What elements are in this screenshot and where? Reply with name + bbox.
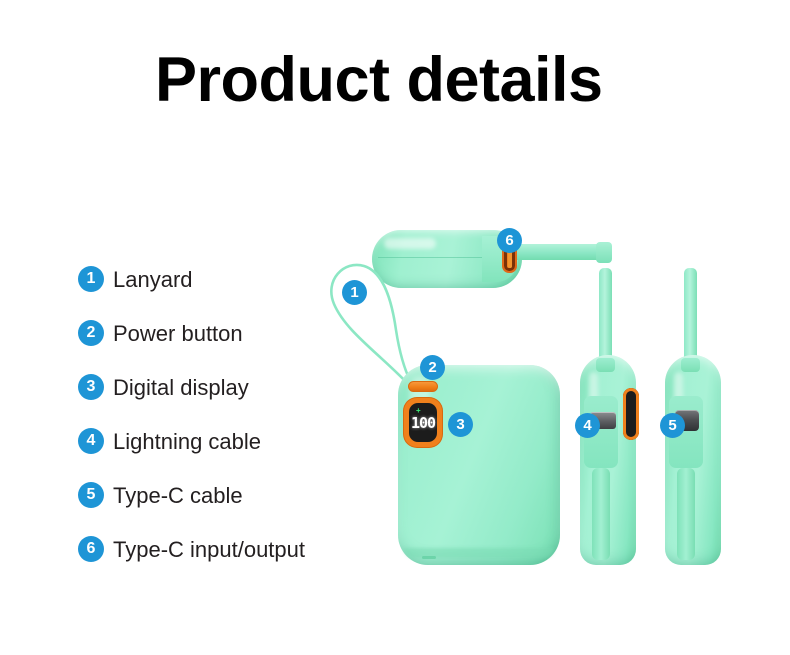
- callout-badge-4: 4: [575, 413, 600, 438]
- side-view-display-bezel: [623, 388, 639, 440]
- display-screen: + 100: [409, 403, 437, 442]
- lanyard-strap-base-left: [596, 358, 615, 372]
- lanyard-strap-tip: [596, 242, 612, 263]
- top-view-highlight: [384, 238, 436, 249]
- callout-badge-2: 2: [420, 355, 445, 380]
- callout-badge-6: 6: [497, 228, 522, 253]
- legend-label-3: Digital display: [113, 374, 249, 401]
- type-c-cable-channel: [677, 468, 695, 560]
- callout-badge-1: 1: [342, 280, 367, 305]
- callout-badge-3: 3: [448, 412, 473, 437]
- lightning-cable-channel: [592, 468, 610, 560]
- front-view-notch: [422, 556, 436, 559]
- lanyard-strap-left: [599, 268, 612, 364]
- digital-display: + 100: [404, 398, 442, 447]
- legend-badge-3: 3: [78, 374, 104, 400]
- callout-badge-5: 5: [660, 413, 685, 438]
- legend-badge-6: 6: [78, 536, 104, 562]
- product-illustration: + 100 1 2 3 4 5 6: [300, 200, 790, 600]
- legend-badge-5: 5: [78, 482, 104, 508]
- legend-label-1: Lanyard: [113, 266, 193, 293]
- lanyard-strap-base-right: [681, 358, 700, 372]
- legend-label-6: Type-C input/output: [113, 536, 305, 563]
- legend-label-2: Power button: [113, 320, 243, 347]
- lanyard-strap-horizontal: [510, 244, 608, 260]
- lanyard-strap-right: [684, 268, 697, 364]
- legend-badge-1: 1: [78, 266, 104, 292]
- legend-label-4: Lightning cable: [113, 428, 261, 455]
- page-title: Product details: [155, 44, 603, 116]
- legend-label-5: Type-C cable: [113, 482, 243, 509]
- type-c-port-slot: [508, 251, 512, 268]
- legend-badge-4: 4: [78, 428, 104, 454]
- power-button[interactable]: [408, 381, 438, 392]
- legend-badge-2: 2: [78, 320, 104, 346]
- display-battery-percentage: 100: [409, 416, 437, 431]
